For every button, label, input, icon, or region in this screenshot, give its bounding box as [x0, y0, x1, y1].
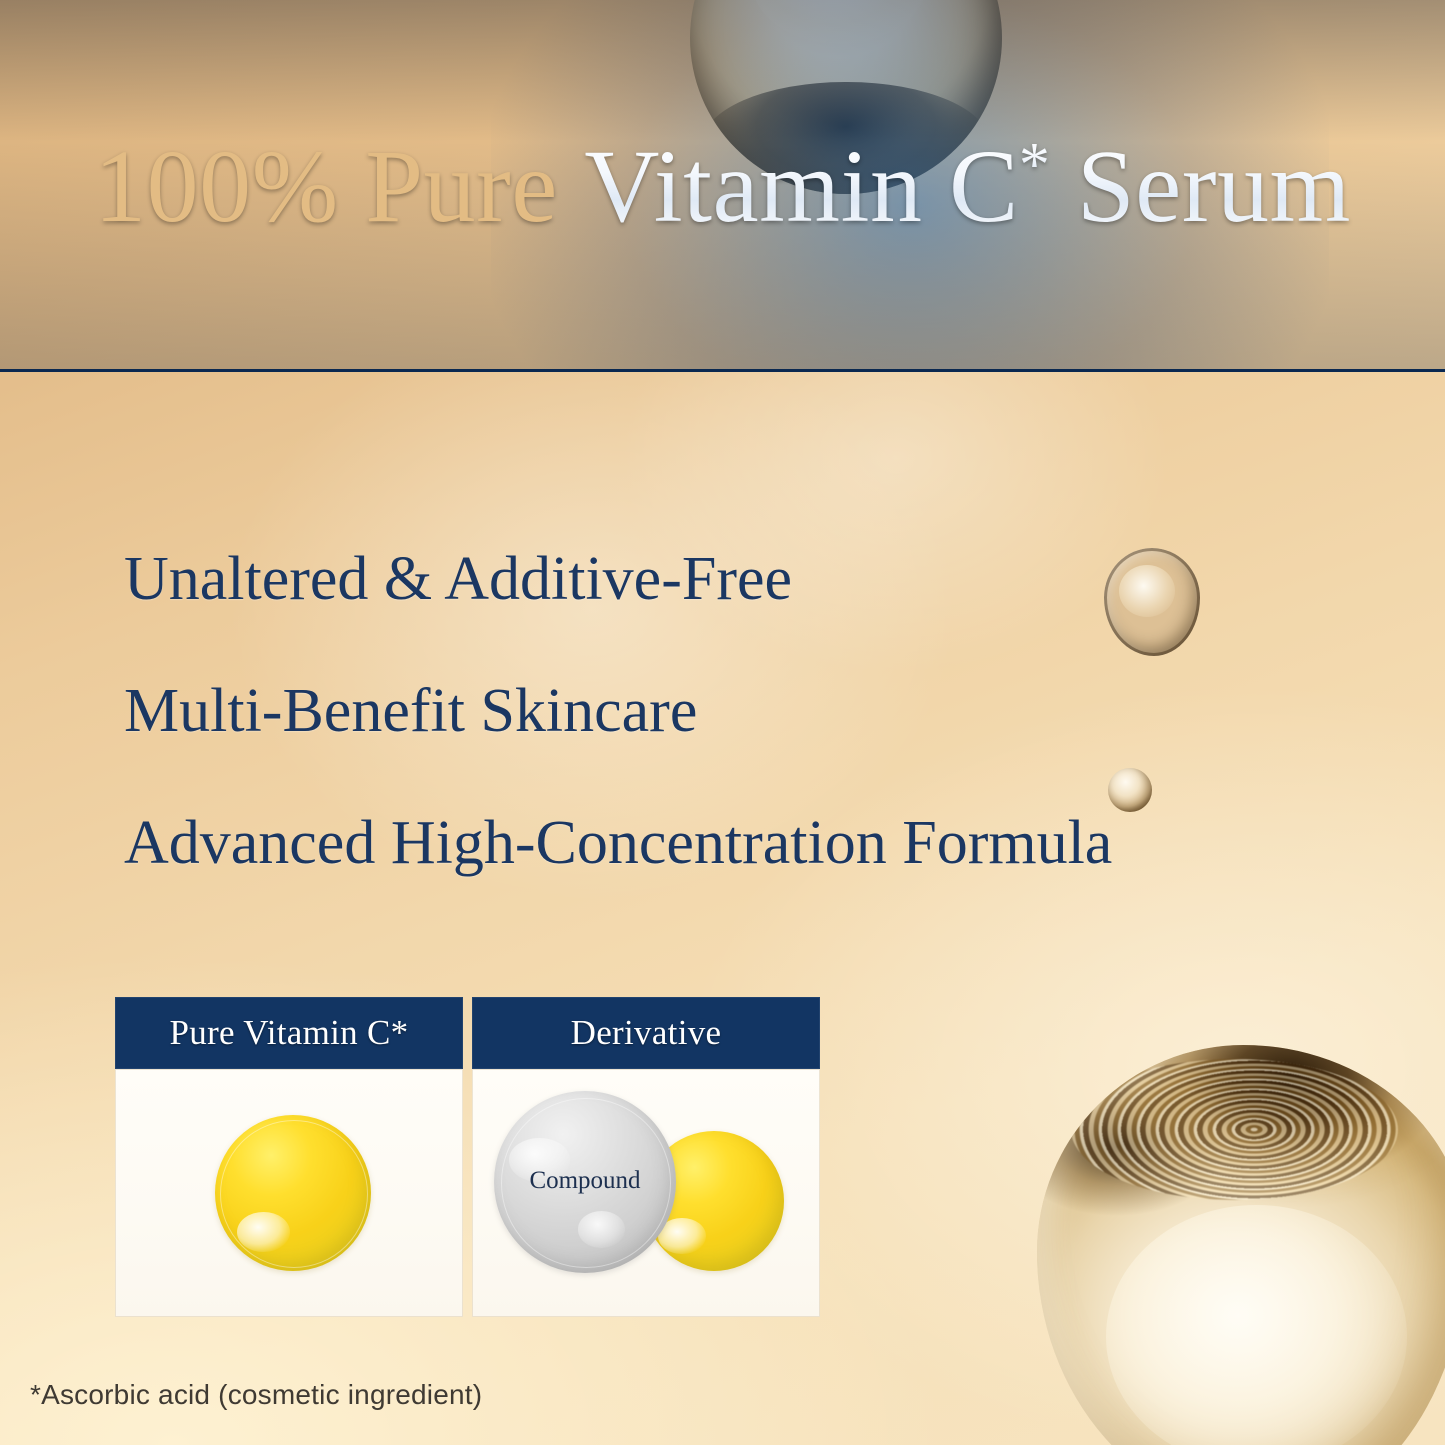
- compound-label: Compound: [494, 1167, 676, 1195]
- headline-asterisk: *: [1019, 131, 1051, 199]
- card-body-derivative: Compound: [472, 1069, 820, 1317]
- card-body-pure: [115, 1069, 463, 1317]
- headline-white-tail: Serum: [1050, 129, 1351, 244]
- compound-sphere-icon: Compound: [494, 1091, 676, 1273]
- comparison-table: Pure Vitamin C* Derivative: [115, 997, 820, 1317]
- headline-white-part: Vitamin C: [584, 129, 1018, 244]
- headline-gold-part: 100% Pure: [94, 129, 558, 244]
- footnote-text: *Ascorbic acid (cosmetic ingredient): [30, 1379, 482, 1411]
- vitamin-c-sphere-icon: [215, 1115, 371, 1271]
- product-infographic: 100% Pure Vitamin C* Serum Unaltered & A…: [0, 0, 1445, 1445]
- comparison-card-derivative: Derivative Compound: [472, 997, 820, 1317]
- page-title: 100% Pure Vitamin C* Serum: [0, 132, 1445, 242]
- card-header-derivative: Derivative: [472, 997, 820, 1069]
- benefit-item-3: Advanced High-Concentration Formula: [124, 812, 1112, 874]
- card-title-pure: Pure Vitamin C*: [170, 1013, 409, 1053]
- benefit-list: Unaltered & Additive-Free Multi-Benefit …: [124, 548, 1112, 944]
- comparison-card-pure: Pure Vitamin C*: [115, 997, 463, 1317]
- benefit-item-2: Multi-Benefit Skincare: [124, 680, 1112, 742]
- headline-space: [558, 129, 585, 244]
- benefit-item-1: Unaltered & Additive-Free: [124, 548, 1112, 610]
- card-title-derivative: Derivative: [571, 1013, 722, 1053]
- sphere-ring: [220, 1120, 369, 1269]
- card-header-pure: Pure Vitamin C*: [115, 997, 463, 1069]
- banner-bottom-edge: [0, 369, 1445, 372]
